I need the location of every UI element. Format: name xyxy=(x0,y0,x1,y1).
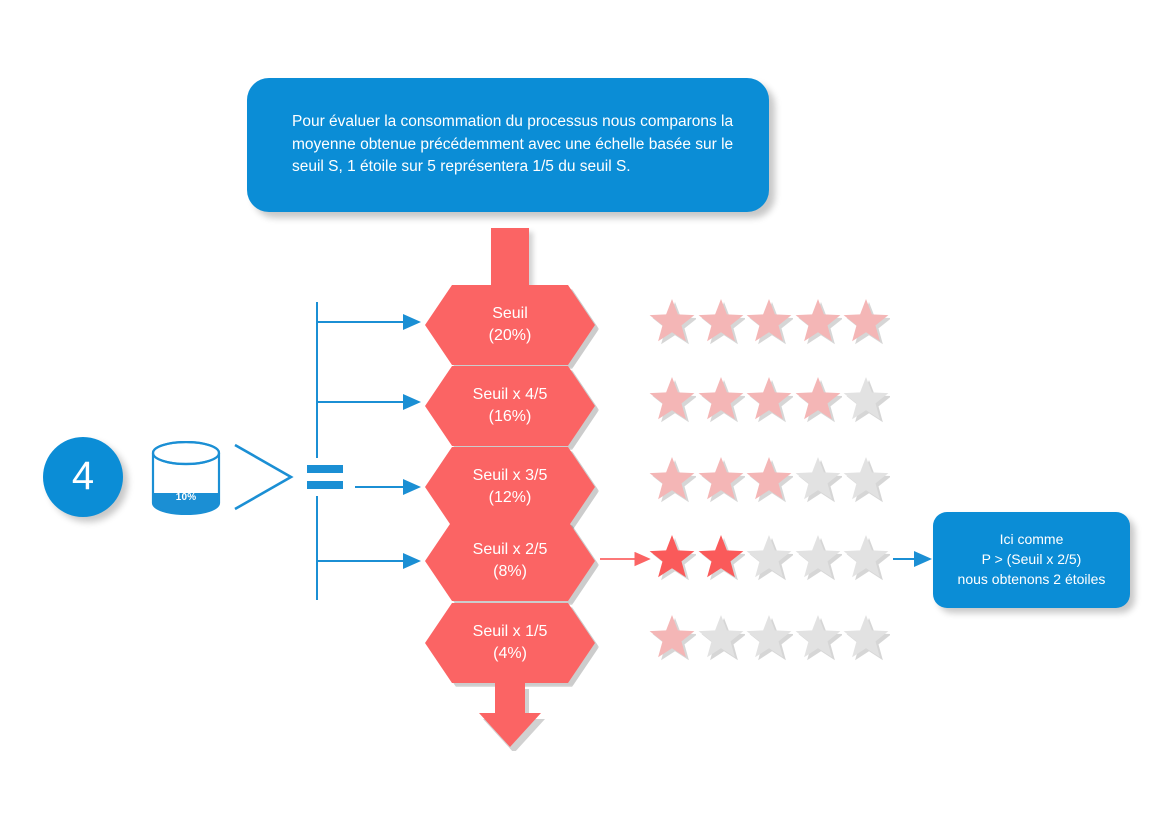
star-filled-icon xyxy=(794,375,842,423)
result-callout-box xyxy=(933,512,1130,608)
star-empty-icon xyxy=(842,375,890,423)
step-circle xyxy=(43,437,123,517)
star-filled-icon xyxy=(745,297,793,345)
cylinder-gauge-icon xyxy=(151,441,221,515)
hexagon-label-line1: Seuil x 2/5 xyxy=(473,539,548,561)
star-filled-icon xyxy=(745,375,793,423)
star-filled-icon xyxy=(697,533,745,581)
star-empty-icon xyxy=(745,533,793,581)
star-empty-icon xyxy=(794,613,842,661)
hexagon-label-group: Seuil x 4/5 (16%) xyxy=(425,366,595,446)
greater-than-icon xyxy=(235,445,291,509)
star-filled-icon xyxy=(697,455,745,503)
star-row-2 xyxy=(648,375,898,427)
hexagon-label-line1: Seuil x 3/5 xyxy=(473,465,548,487)
diagram-canvas: Pour évaluer la consommation du processu… xyxy=(0,0,1169,825)
comparator-group xyxy=(225,280,445,600)
star-empty-icon xyxy=(794,533,842,581)
info-callout-box xyxy=(247,78,769,212)
hexagon-label-line1: Seuil x 1/5 xyxy=(473,621,548,643)
hexagon-label-group: Seuil (20%) xyxy=(425,285,595,365)
star-empty-icon xyxy=(842,613,890,661)
hexagon-label-line1: Seuil x 4/5 xyxy=(473,384,548,406)
hexagon-label-line2: (8%) xyxy=(493,561,527,583)
hexagon-label-line2: (4%) xyxy=(493,643,527,665)
flow-stem-top xyxy=(491,228,529,288)
star-row-4 xyxy=(648,533,898,585)
star-filled-icon xyxy=(842,297,890,345)
star-row-5 xyxy=(648,613,898,665)
star-filled-icon xyxy=(794,297,842,345)
star-filled-icon xyxy=(648,375,696,423)
star-empty-icon xyxy=(842,533,890,581)
hexagon-label-line2: (20%) xyxy=(489,325,532,347)
star-filled-icon xyxy=(697,297,745,345)
star-filled-icon xyxy=(648,613,696,661)
star-empty-icon xyxy=(697,613,745,661)
star-filled-icon xyxy=(697,375,745,423)
hexagon-label-line2: (16%) xyxy=(489,406,532,428)
threshold-hexagon-3[interactable]: Seuil x 3/5 (12%) xyxy=(425,447,595,527)
hexagon-label-group: Seuil x 1/5 (4%) xyxy=(425,603,595,683)
star-filled-icon xyxy=(745,455,793,503)
star-filled-icon xyxy=(648,533,696,581)
threshold-hexagon-5[interactable]: Seuil x 1/5 (4%) xyxy=(425,603,595,683)
star-filled-icon xyxy=(648,297,696,345)
hexagon-label-group: Seuil x 3/5 (12%) xyxy=(425,447,595,527)
equals-icon xyxy=(307,465,343,489)
threshold-hexagon-4[interactable]: Seuil x 2/5 (8%) xyxy=(425,521,595,601)
star-empty-icon xyxy=(745,613,793,661)
star-empty-icon xyxy=(794,455,842,503)
hexagon-label-group: Seuil x 2/5 (8%) xyxy=(425,521,595,601)
star-row-3 xyxy=(648,455,898,507)
hexagon-label-line1: Seuil xyxy=(492,303,528,325)
flow-arrow-bottom xyxy=(475,681,545,751)
star-row-1 xyxy=(648,297,898,349)
star-empty-icon xyxy=(842,455,890,503)
hexagon-label-line2: (12%) xyxy=(489,487,532,509)
star-filled-icon xyxy=(648,455,696,503)
threshold-hexagon-1[interactable]: Seuil (20%) xyxy=(425,285,595,365)
threshold-hexagon-2[interactable]: Seuil x 4/5 (16%) xyxy=(425,366,595,446)
